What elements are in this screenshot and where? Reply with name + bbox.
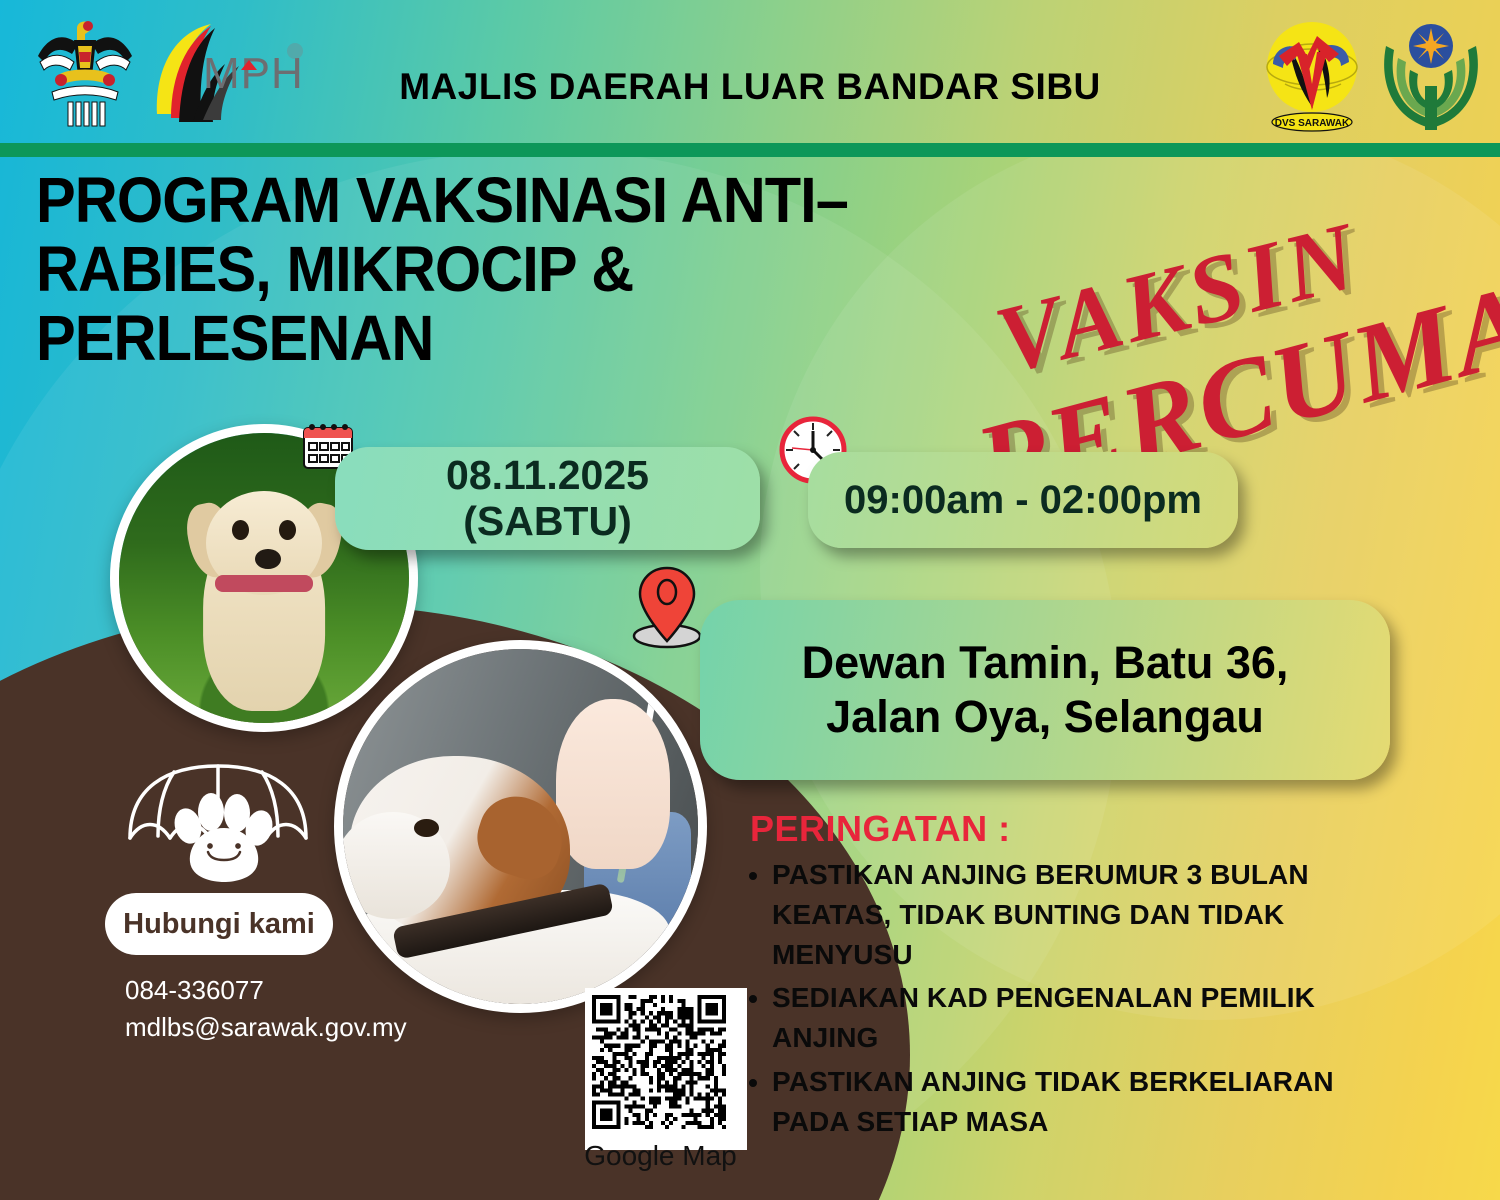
contact-phone[interactable]: 084-336077 (125, 972, 545, 1009)
reminder-item: PASTIKAN ANJING BERUMUR 3 BULAN KEATAS, … (772, 855, 1402, 974)
event-venue-line-1: Dewan Tamin, Batu 36, (802, 636, 1289, 690)
main-heading-line-1: PROGRAM VAKSINASI ANTI– (36, 166, 975, 235)
dvs-logo-text: DVS SARAWAK (1275, 118, 1350, 129)
event-date-pill: 08.11.2025 (SABTU) (335, 447, 760, 550)
location-pin-icon (630, 565, 705, 650)
main-heading: PROGRAM VAKSINASI ANTI– RABIES, MIKROCIP… (36, 166, 975, 373)
reminder-item: SEDIAKAN KAD PENGENALAN PEMILIK ANJING (772, 978, 1402, 1058)
poster: MPHLG DVS SARAWAK MAJLIS DAERAH LUA (0, 0, 1500, 1200)
vaccination-photo-art (343, 649, 698, 1004)
event-venue-line-2: Jalan Oya, Selangau (802, 690, 1289, 744)
contact-us-button[interactable]: Hubungi kami (105, 893, 333, 955)
free-vaccine-badge: VAKSIN PERCUMA! (975, 232, 1495, 482)
qr-code-label: Google Map (578, 1140, 743, 1172)
google-map-qr-code[interactable] (585, 988, 747, 1150)
contact-details: 084-336077 mdlbs@sarawak.gov.my (125, 972, 545, 1046)
event-date-line-2: (SABTU) (446, 499, 649, 545)
event-date-line-1: 08.11.2025 (446, 453, 649, 499)
event-time-pill: 09:00am - 02:00pm (808, 452, 1238, 548)
vaccination-photo (334, 640, 707, 1013)
reminder-title: PERINGATAN : (750, 808, 1011, 850)
main-heading-line-2: RABIES, MIKROCIP & (36, 235, 975, 304)
main-heading-line-3: PERLESENAN (36, 304, 975, 373)
reminder-item: PASTIKAN ANJING TIDAK BERKELIARAN PADA S… (772, 1062, 1402, 1142)
event-venue-pill: Dewan Tamin, Batu 36, Jalan Oya, Selanga… (700, 600, 1390, 780)
page-title: MAJLIS DAERAH LUAR BANDAR SIBU (0, 66, 1500, 108)
paw-umbrella-icon (118, 760, 318, 885)
qr-code-icon (592, 995, 726, 1129)
header-green-divider (0, 143, 1500, 157)
free-vaccine-line-1: VAKSIN (985, 199, 1370, 396)
contact-email[interactable]: mdlbs@sarawak.gov.my (125, 1009, 545, 1046)
reminder-list: PASTIKAN ANJING BERUMUR 3 BULAN KEATAS, … (740, 855, 1402, 1145)
